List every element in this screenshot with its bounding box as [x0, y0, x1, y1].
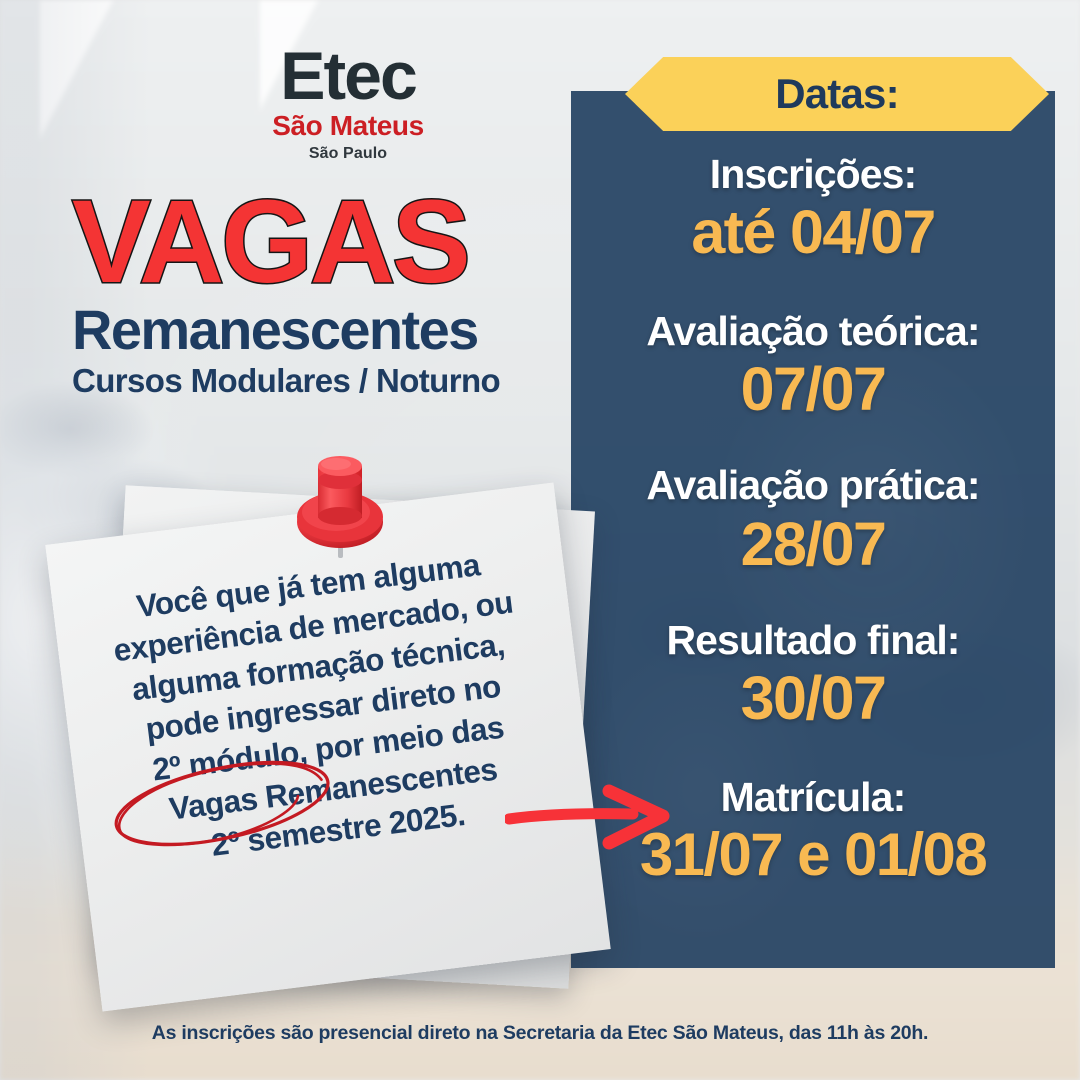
date-label: Avaliação prática: — [571, 461, 1055, 509]
date-value: 28/07 — [571, 510, 1055, 578]
logo-unit-name: São Mateus — [228, 110, 468, 142]
date-value: até 04/07 — [571, 198, 1055, 266]
etec-logo: Etec São Mateus São Paulo — [228, 44, 468, 163]
date-row: Avaliação teórica: 07/07 — [571, 307, 1055, 424]
footer-text: As inscrições são presencial direto na S… — [152, 1022, 928, 1044]
headline-title: VAGAS — [72, 188, 542, 297]
date-value: 07/07 — [571, 355, 1055, 423]
date-row: Resultado final: 30/07 — [571, 616, 1055, 733]
date-row: Avaliação prática: 28/07 — [571, 461, 1055, 578]
logo-city-name: São Paulo — [228, 145, 468, 163]
pushpin-icon — [292, 438, 390, 562]
dates-banner: Datas: — [625, 57, 1049, 131]
date-value: 30/07 — [571, 664, 1055, 732]
date-label: Resultado final: — [571, 616, 1055, 664]
poster-canvas: Etec São Mateus São Paulo VAGAS Remanesc… — [0, 0, 1080, 1080]
headline-block: VAGAS Remanescentes Cursos Modulares / N… — [72, 188, 542, 400]
date-label: Avaliação teórica: — [571, 307, 1055, 355]
date-label: Inscrições: — [571, 150, 1055, 198]
footer-note: As inscrições são presencial direto na S… — [0, 1022, 1080, 1045]
dates-banner-label: Datas: — [775, 70, 899, 118]
date-row: Inscrições: até 04/07 — [571, 150, 1055, 267]
headline-subtitle: Remanescentes — [72, 301, 542, 359]
logo-wordmark: Etec — [228, 44, 468, 109]
headline-tagline: Cursos Modulares / Noturno — [72, 362, 542, 400]
red-arrow-icon — [505, 783, 680, 851]
